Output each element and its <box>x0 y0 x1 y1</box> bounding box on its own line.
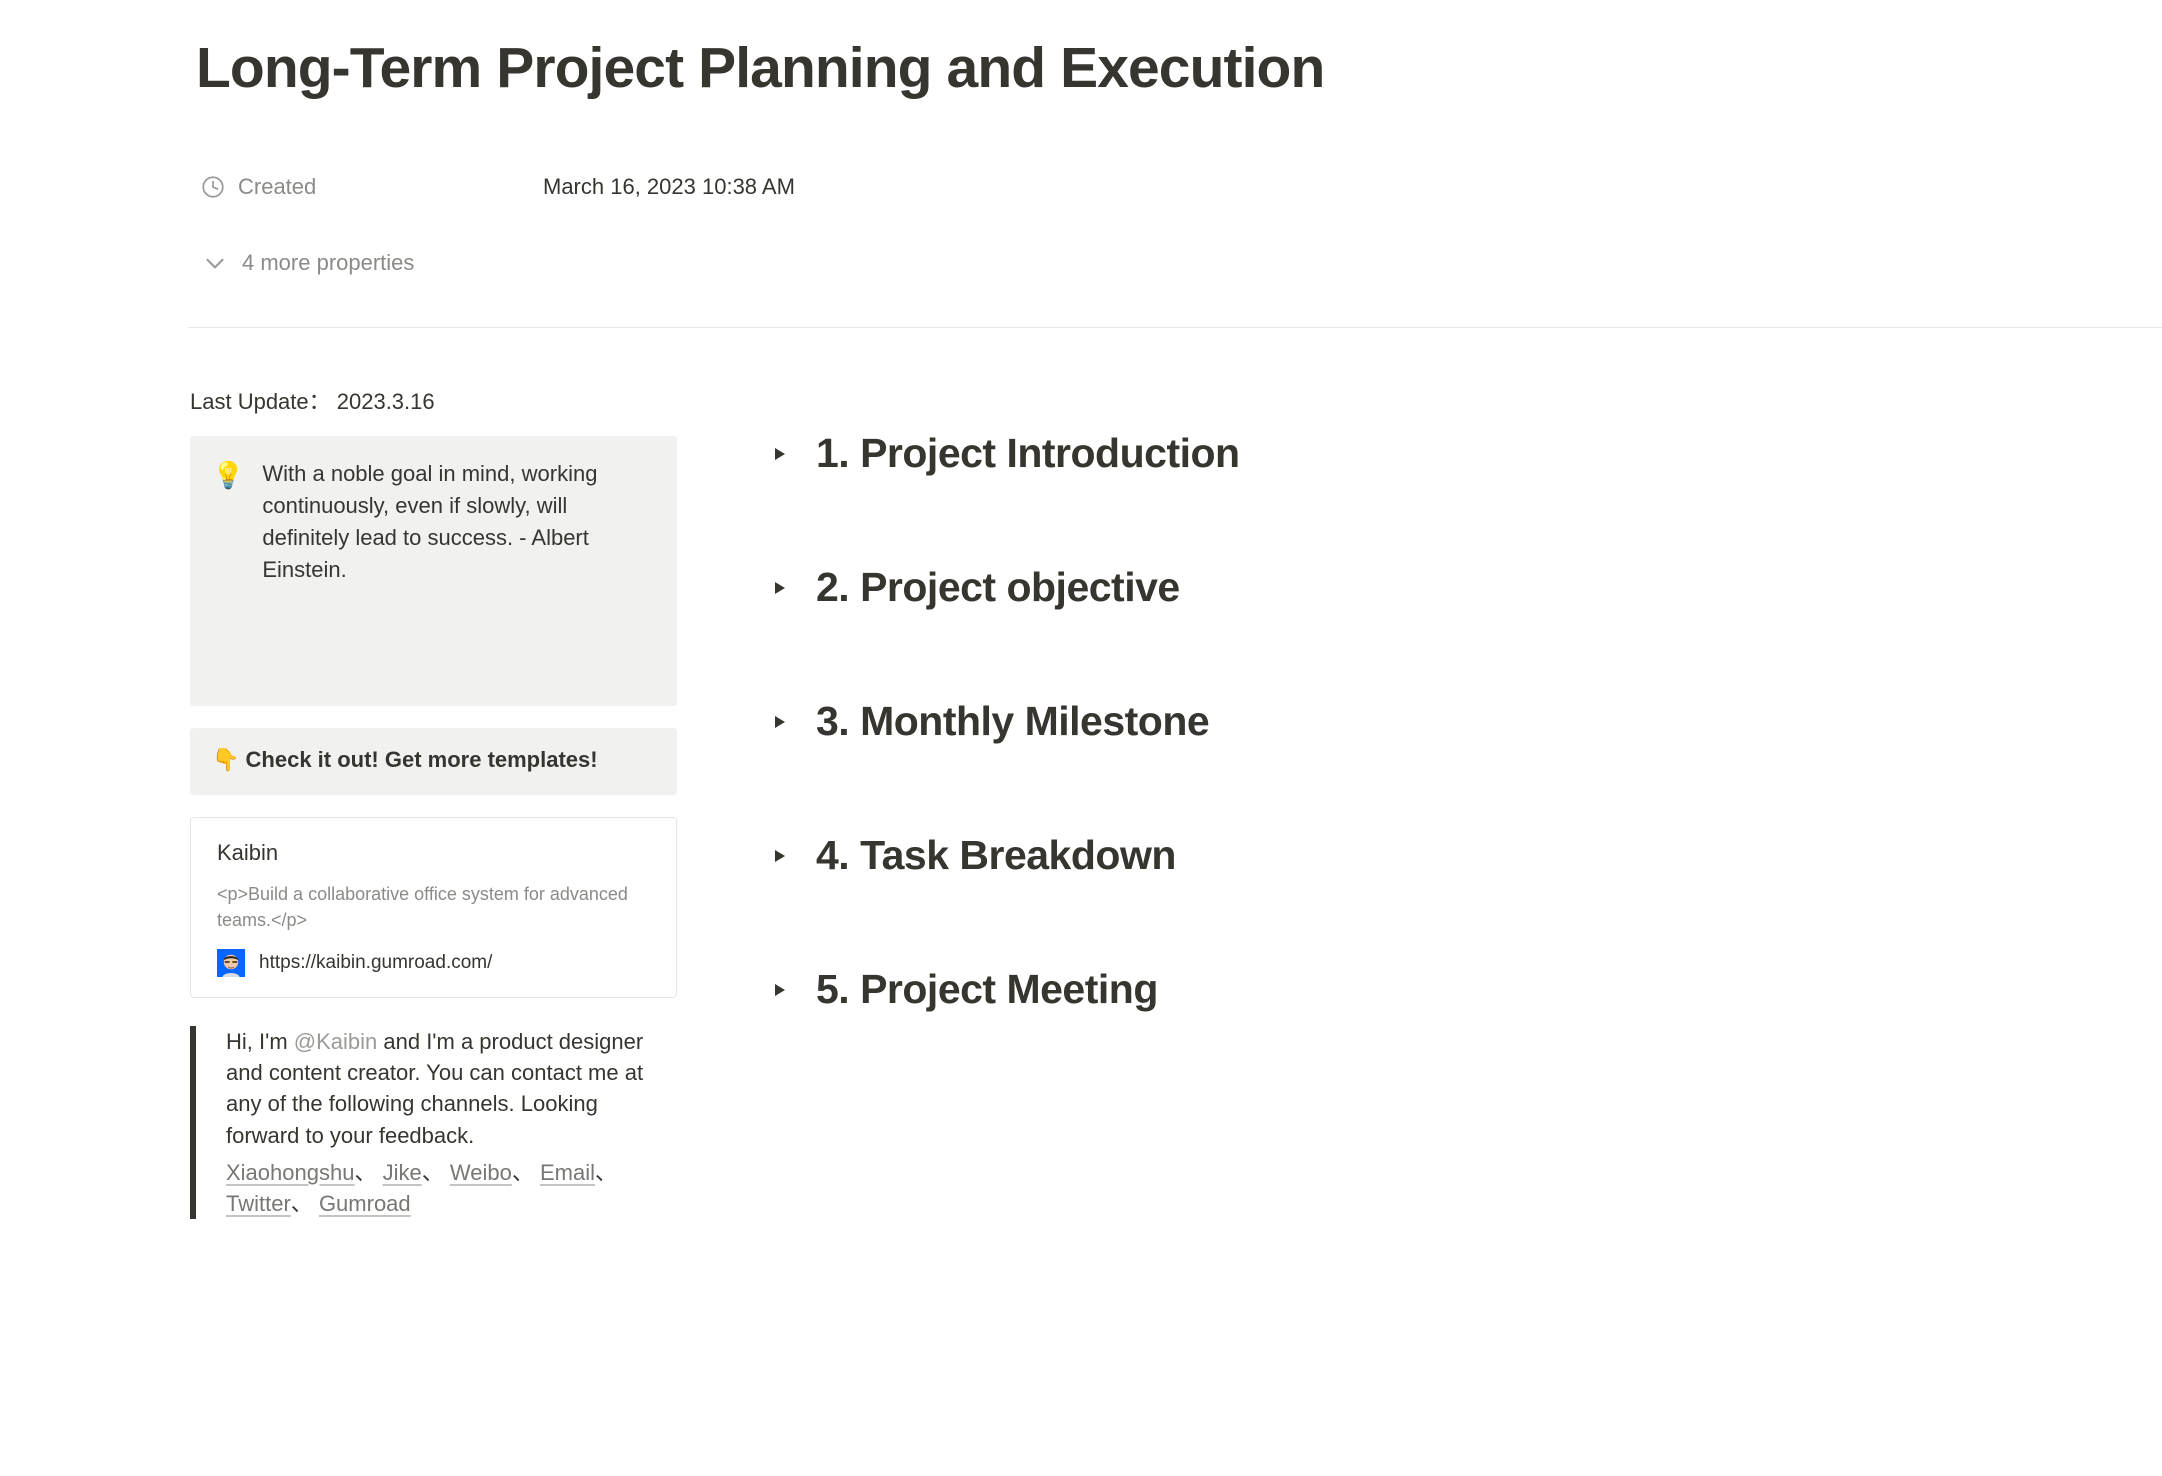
link-gumroad[interactable]: Gumroad <box>319 1191 411 1216</box>
link-separator: 、 <box>422 1160 444 1185</box>
triangle-right-icon[interactable] <box>770 710 790 734</box>
toggle-heading-label: 4. Task Breakdown <box>816 832 1176 879</box>
triangle-right-icon[interactable] <box>770 978 790 1002</box>
toggle-heading-monthly-milestone[interactable]: 3. Monthly Milestone <box>770 698 1970 745</box>
link-twitter[interactable]: Twitter <box>226 1191 291 1216</box>
toggle-heading-label: 1. Project Introduction <box>816 430 1240 477</box>
triangle-right-icon[interactable] <box>770 576 790 600</box>
link-jike[interactable]: Jike <box>383 1160 422 1185</box>
toggle-heading-label: 3. Monthly Milestone <box>816 698 1209 745</box>
link-separator: 、 <box>595 1160 617 1185</box>
callout-quote-text: With a noble goal in mind, working conti… <box>262 458 653 586</box>
link-separator: 、 <box>291 1191 313 1216</box>
left-column: Last Update： 2023.3.16 💡 With a noble go… <box>190 385 677 1219</box>
toggle-heading-project-introduction[interactable]: 1. Project Introduction <box>770 430 1970 477</box>
property-label-created: Created <box>238 174 316 200</box>
link-separator: 、 <box>354 1160 376 1185</box>
bookmark-card[interactable]: Kaibin <p>Build a collaborative office s… <box>190 817 677 998</box>
clock-icon <box>200 174 226 200</box>
chevron-down-icon <box>200 248 230 278</box>
header-divider <box>188 327 2162 328</box>
page-title: Long-Term Project Planning and Execution <box>196 36 1324 102</box>
blockquote-about-author: Hi, I'm @Kaibin and I'm a product design… <box>190 1026 677 1219</box>
property-row-created[interactable]: Created <box>200 168 316 206</box>
kaibin-avatar-favicon <box>217 949 245 977</box>
bookmark-link-row[interactable]: https://kaibin.gumroad.com/ <box>217 949 654 977</box>
bookmark-description: <p>Build a collaborative office system f… <box>217 881 654 933</box>
toggle-heading-task-breakdown[interactable]: 4. Task Breakdown <box>770 832 1970 879</box>
blockquote-text-before-mention: Hi, I'm <box>226 1029 294 1054</box>
last-update-text: Last Update： 2023.3.16 <box>190 385 677 418</box>
more-properties-toggle[interactable]: 4 more properties <box>200 246 414 280</box>
page-root: Long-Term Project Planning and Execution… <box>0 0 2162 1476</box>
link-email[interactable]: Email <box>540 1160 595 1185</box>
more-properties-label: 4 more properties <box>242 250 414 276</box>
toggle-heading-project-objective[interactable]: 2. Project objective <box>770 564 1970 611</box>
triangle-right-icon[interactable] <box>770 844 790 868</box>
light-bulb-emoji: 💡 <box>212 458 244 496</box>
toggle-heading-project-meeting[interactable]: 5. Project Meeting <box>770 966 1970 1013</box>
callout-promo[interactable]: 👇 Check it out! Get more templates! <box>190 728 677 795</box>
bookmark-url[interactable]: https://kaibin.gumroad.com/ <box>259 952 492 974</box>
link-xiaohongshu[interactable]: Xiaohongshu <box>226 1160 354 1185</box>
bookmark-title: Kaibin <box>217 838 654 869</box>
link-weibo[interactable]: Weibo <box>450 1160 512 1185</box>
triangle-right-icon[interactable] <box>770 442 790 466</box>
toggle-heading-label: 2. Project objective <box>816 564 1180 611</box>
toggle-heading-label: 5. Project Meeting <box>816 966 1158 1013</box>
backhand-index-pointing-down-emoji: 👇 <box>212 748 239 773</box>
right-column: 1. Project Introduction 2. Project objec… <box>770 430 1970 1013</box>
social-links-row: Xiaohongshu、 Jike、 Weibo、 Email、 Twitter… <box>226 1157 677 1219</box>
mention-kaibin[interactable]: @Kaibin <box>294 1029 378 1054</box>
property-value-created[interactable]: March 16, 2023 10:38 AM <box>543 168 795 206</box>
blockquote-text: Hi, I'm @Kaibin and I'm a product design… <box>226 1026 677 1151</box>
callout-quote[interactable]: 💡 With a noble goal in mind, working con… <box>190 436 677 706</box>
callout-promo-label: Check it out! Get more templates! <box>246 747 598 772</box>
link-separator: 、 <box>512 1160 534 1185</box>
callout-promo-text: 👇 Check it out! Get more templates! <box>212 744 598 777</box>
